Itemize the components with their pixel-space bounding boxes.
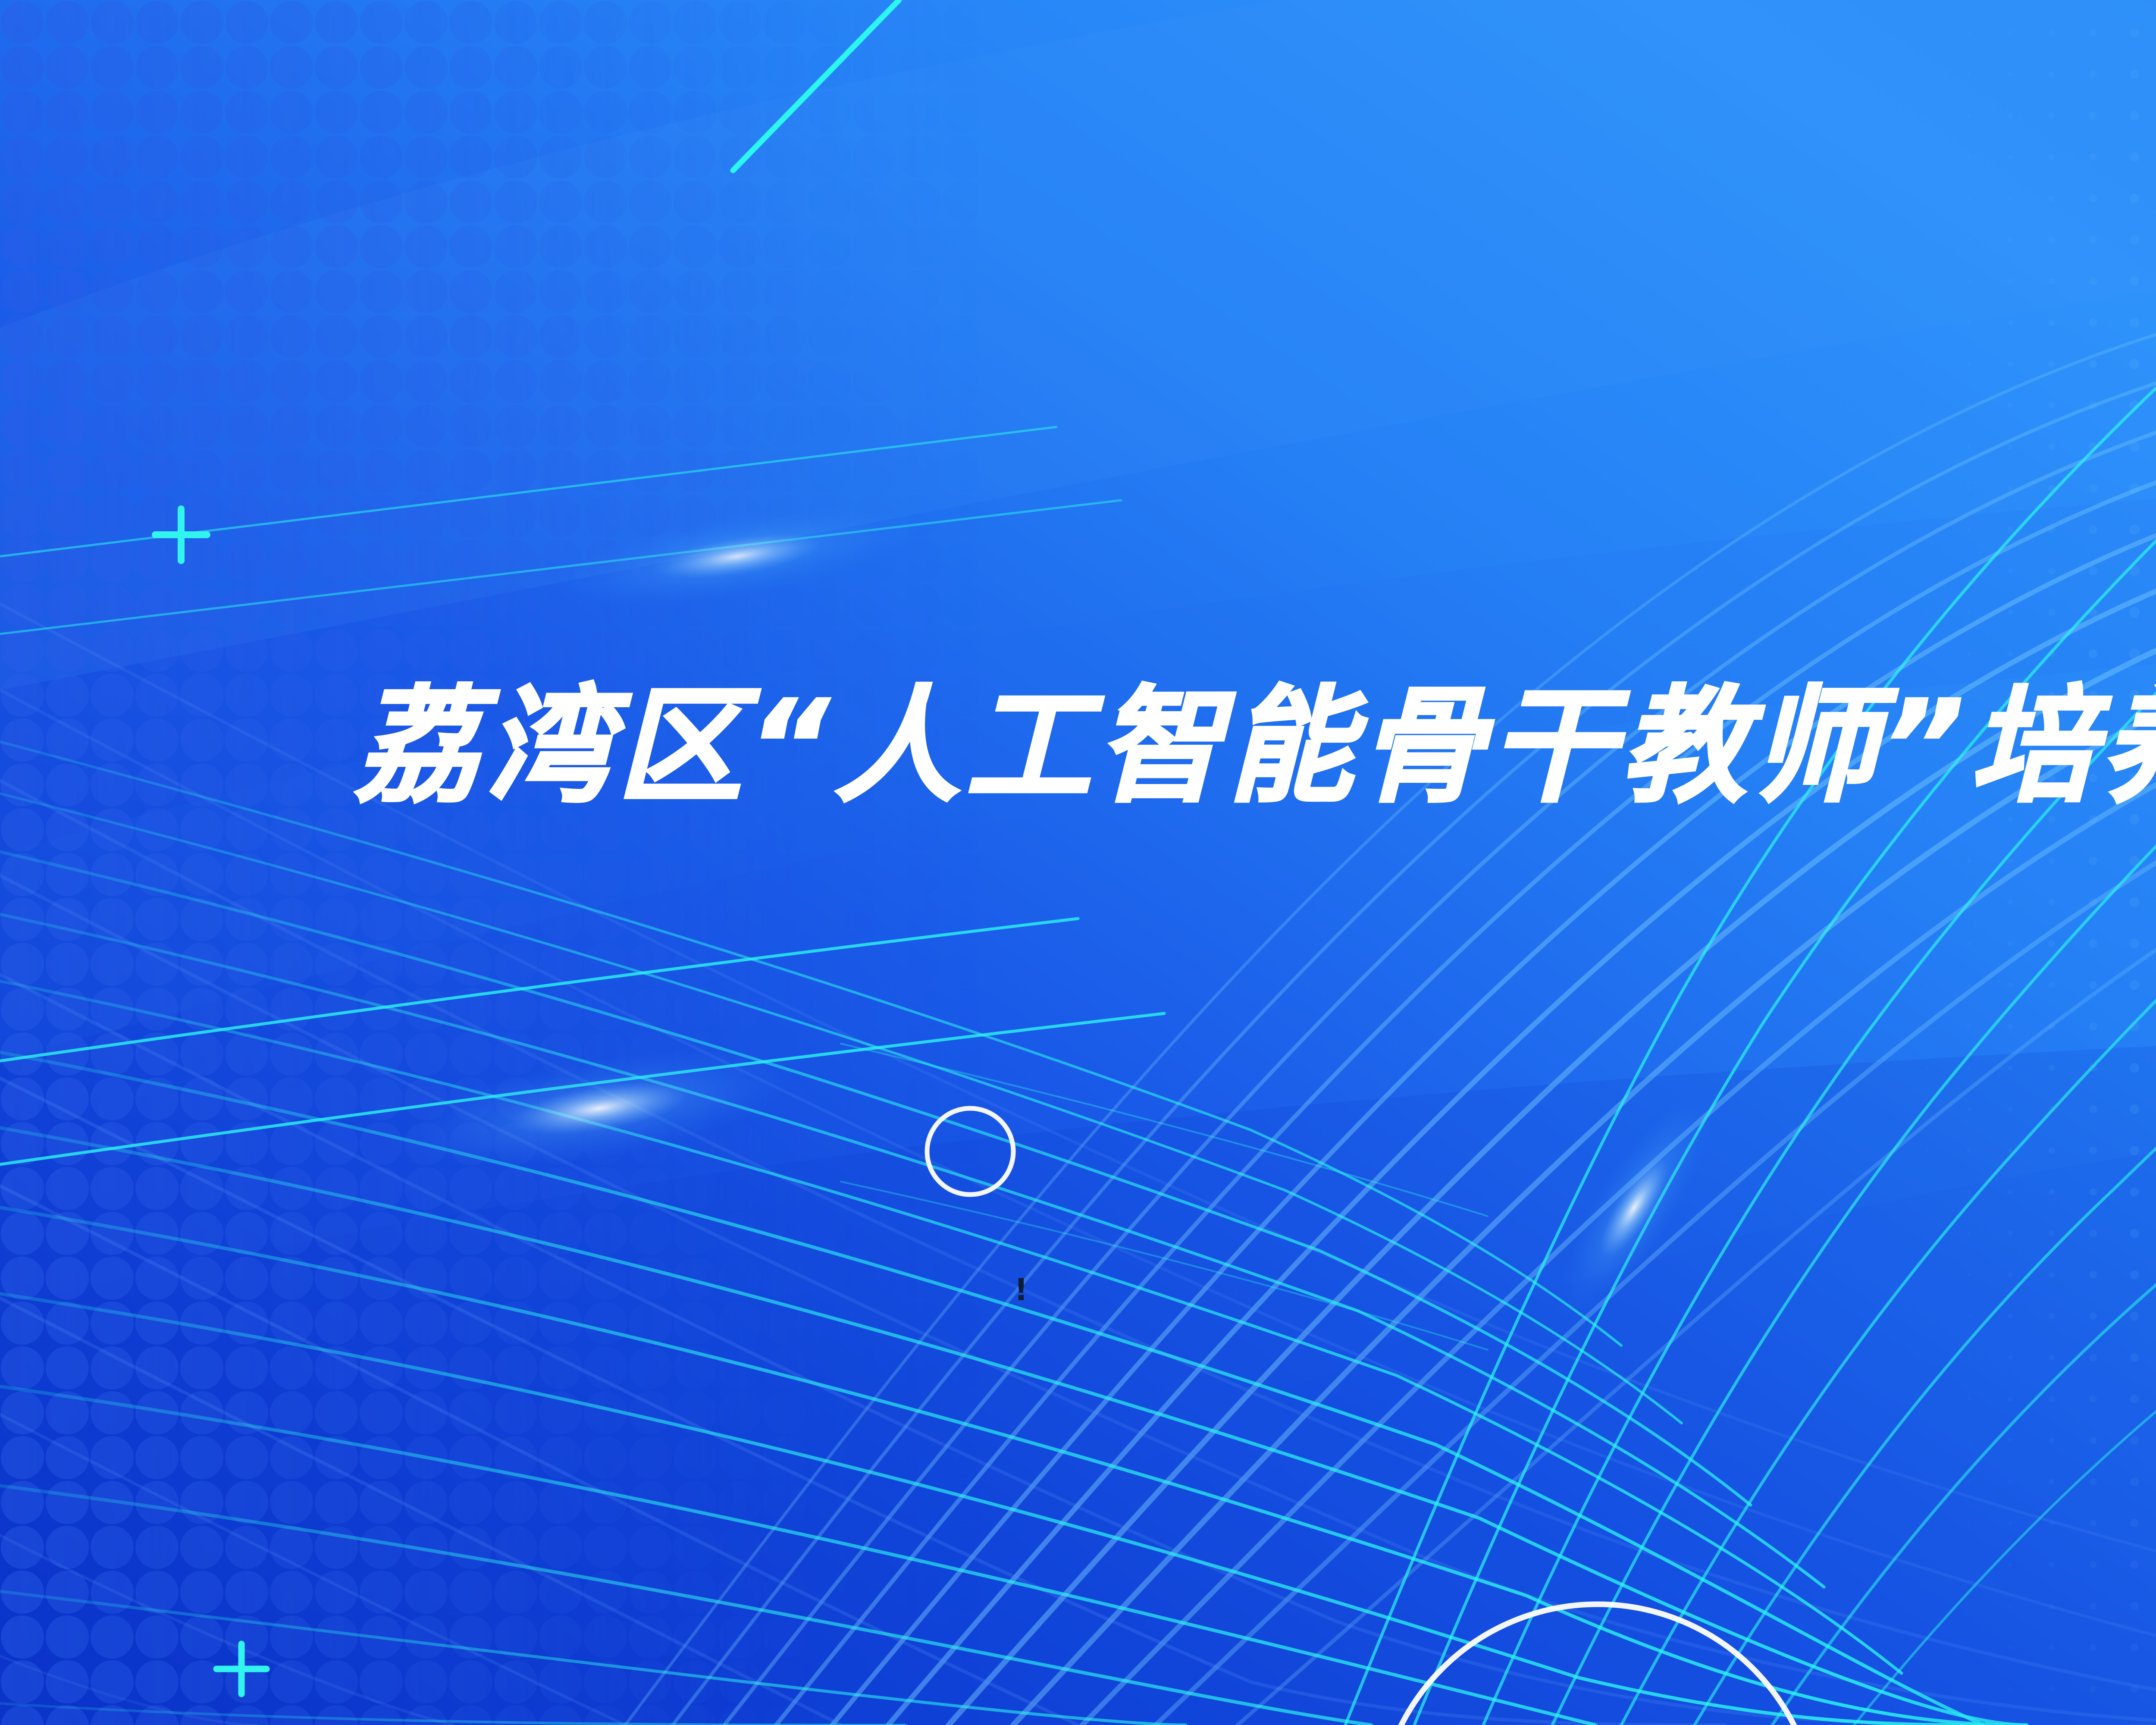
background-artwork: !	[0, 0, 2156, 1725]
cover-slide: ! 荔湾区“人工智能骨干教师”培养	[0, 0, 2156, 1725]
exclamation-artifact: !	[1014, 1272, 1028, 1308]
